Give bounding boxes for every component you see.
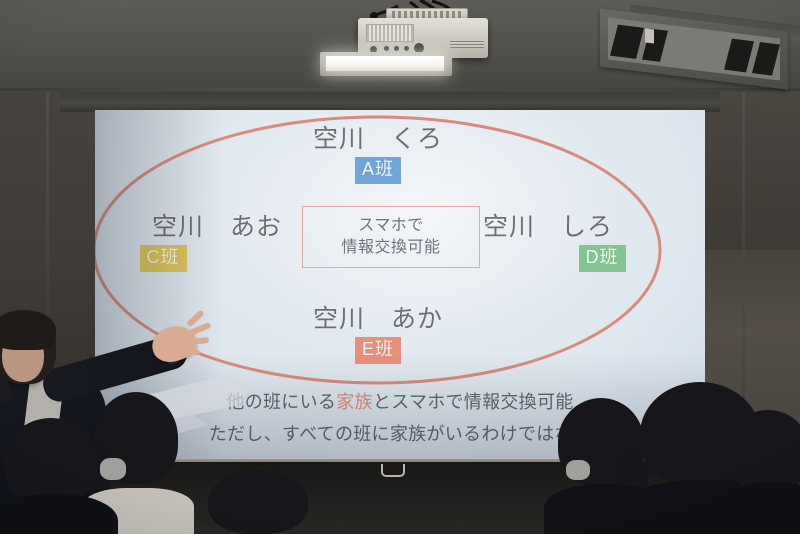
fluorescent-light [326, 56, 444, 71]
center-note-line2: 情報交換可能 [341, 237, 440, 259]
screenshot-root: 空川 くろ A班 空川 あお C班 空川 しろ D班 空川 あか E班 スマホで [0, 0, 800, 534]
node-e: 空川 あか E班 [273, 306, 483, 364]
caption-1-post: とスマホで情報交換可能 [373, 392, 574, 412]
projector-knob [384, 46, 389, 51]
node-c-badge: C班 [140, 245, 187, 272]
node-a-badge: A班 [355, 157, 401, 184]
screen-valance [60, 92, 720, 112]
node-a: 空川 くろ A班 [273, 126, 483, 184]
node-c-name: 空川 あお [117, 214, 317, 240]
center-note-line1: スマホで [358, 215, 424, 237]
projector-air-grille [366, 24, 414, 42]
node-e-badge: E班 [355, 337, 401, 364]
audience-member [4, 418, 114, 534]
audience-member [726, 410, 800, 534]
vent-latch [645, 28, 654, 43]
caption-1-highlight: 家族 [336, 392, 373, 412]
right-wall-edge [742, 92, 745, 422]
node-d-badge: D班 [579, 245, 626, 272]
audience-member [190, 470, 330, 534]
node-e-name: 空川 あか [273, 306, 483, 332]
node-a-name: 空川 くろ [273, 126, 483, 152]
node-c: 空川 あお C班 [117, 214, 317, 272]
projector-knob [394, 46, 399, 51]
ceiling-seam [0, 88, 800, 91]
caption-2-text: ただし、すべての班に家族がいるわけではない [209, 424, 591, 444]
presenter-hair [0, 310, 56, 350]
projector-knob [404, 46, 409, 51]
center-note-box: スマホで 情報交換可能 [302, 206, 480, 268]
projector-label-sticker [450, 40, 484, 48]
screen-pull-handle[interactable] [381, 464, 405, 477]
